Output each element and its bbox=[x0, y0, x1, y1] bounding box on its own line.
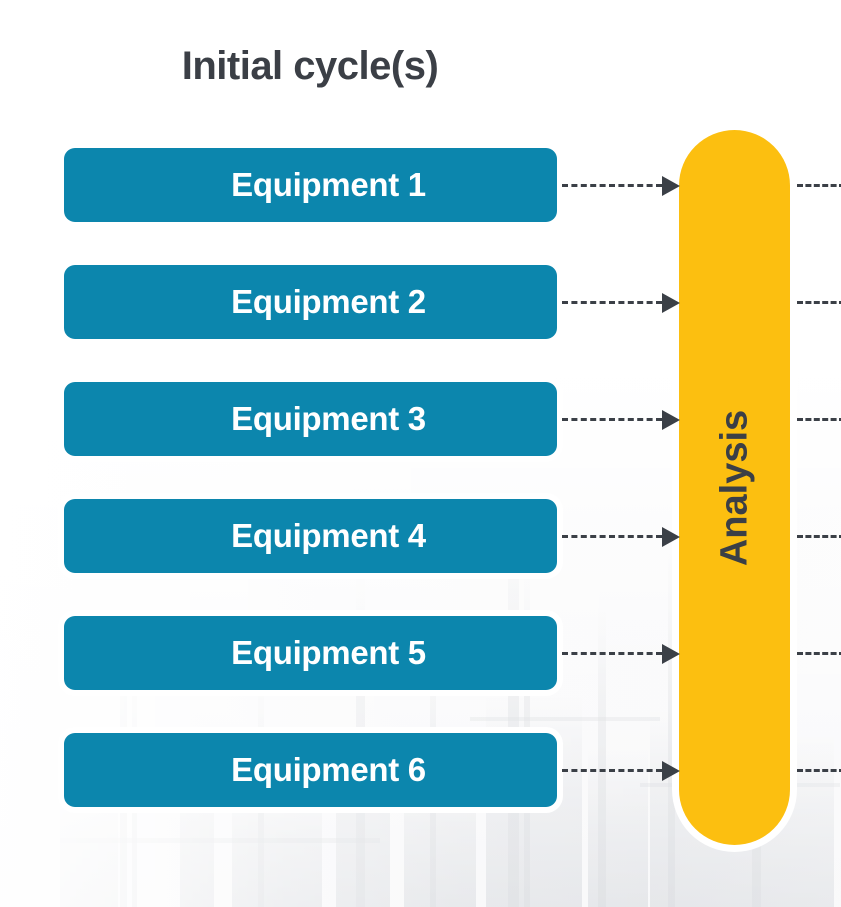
analysis-label: Analysis bbox=[713, 409, 756, 565]
arrowhead-icon bbox=[662, 644, 680, 664]
dashed-line bbox=[562, 184, 662, 187]
background-stack bbox=[668, 552, 675, 907]
background-stack bbox=[508, 517, 519, 907]
equipment-box-2[interactable]: Equipment 2 bbox=[64, 265, 557, 339]
equipment-box-4[interactable]: Equipment 4 bbox=[64, 499, 557, 573]
equipment-box-6[interactable]: Equipment 6 bbox=[64, 733, 557, 807]
dashed-line bbox=[562, 418, 662, 421]
equipment-label: Equipment 3 bbox=[231, 400, 426, 438]
connector-arrow-equipment-6 bbox=[562, 769, 680, 772]
equipment-label: Equipment 4 bbox=[231, 517, 426, 555]
connector-arrow-equipment-4 bbox=[562, 535, 680, 538]
arrowhead-icon bbox=[662, 176, 680, 196]
arrowhead-icon bbox=[662, 293, 680, 313]
dashed-line bbox=[562, 769, 662, 772]
dashed-line bbox=[562, 301, 662, 304]
arrowhead-icon bbox=[662, 410, 680, 430]
connector-arrow-equipment-1 bbox=[562, 184, 680, 187]
equipment-label: Equipment 1 bbox=[231, 166, 426, 204]
outbound-connector-6 bbox=[797, 769, 841, 772]
dashed-line bbox=[562, 535, 662, 538]
equipment-label: Equipment 6 bbox=[231, 751, 426, 789]
analysis-bar[interactable]: Analysis bbox=[679, 130, 790, 845]
outbound-connector-4 bbox=[797, 535, 841, 538]
outbound-connector-5 bbox=[797, 652, 841, 655]
arrowhead-icon bbox=[662, 761, 680, 781]
background-pipe bbox=[60, 838, 380, 843]
equipment-box-3[interactable]: Equipment 3 bbox=[64, 382, 557, 456]
connector-arrow-equipment-2 bbox=[562, 301, 680, 304]
equipment-box-1[interactable]: Equipment 1 bbox=[64, 148, 557, 222]
dashed-line bbox=[562, 652, 662, 655]
equipment-label: Equipment 2 bbox=[231, 283, 426, 321]
equipment-box-5[interactable]: Equipment 5 bbox=[64, 616, 557, 690]
connector-arrow-equipment-5 bbox=[562, 652, 680, 655]
background-pipe bbox=[470, 717, 660, 721]
arrowhead-icon bbox=[662, 527, 680, 547]
outbound-connector-1 bbox=[797, 184, 841, 187]
page-title: Initial cycle(s) bbox=[0, 44, 620, 89]
connector-arrow-equipment-3 bbox=[562, 418, 680, 421]
outbound-connector-2 bbox=[797, 301, 841, 304]
outbound-connector-3 bbox=[797, 418, 841, 421]
equipment-label: Equipment 5 bbox=[231, 634, 426, 672]
diagram-canvas: Initial cycle(s) Equipment 1 Equipment 2… bbox=[0, 0, 841, 907]
